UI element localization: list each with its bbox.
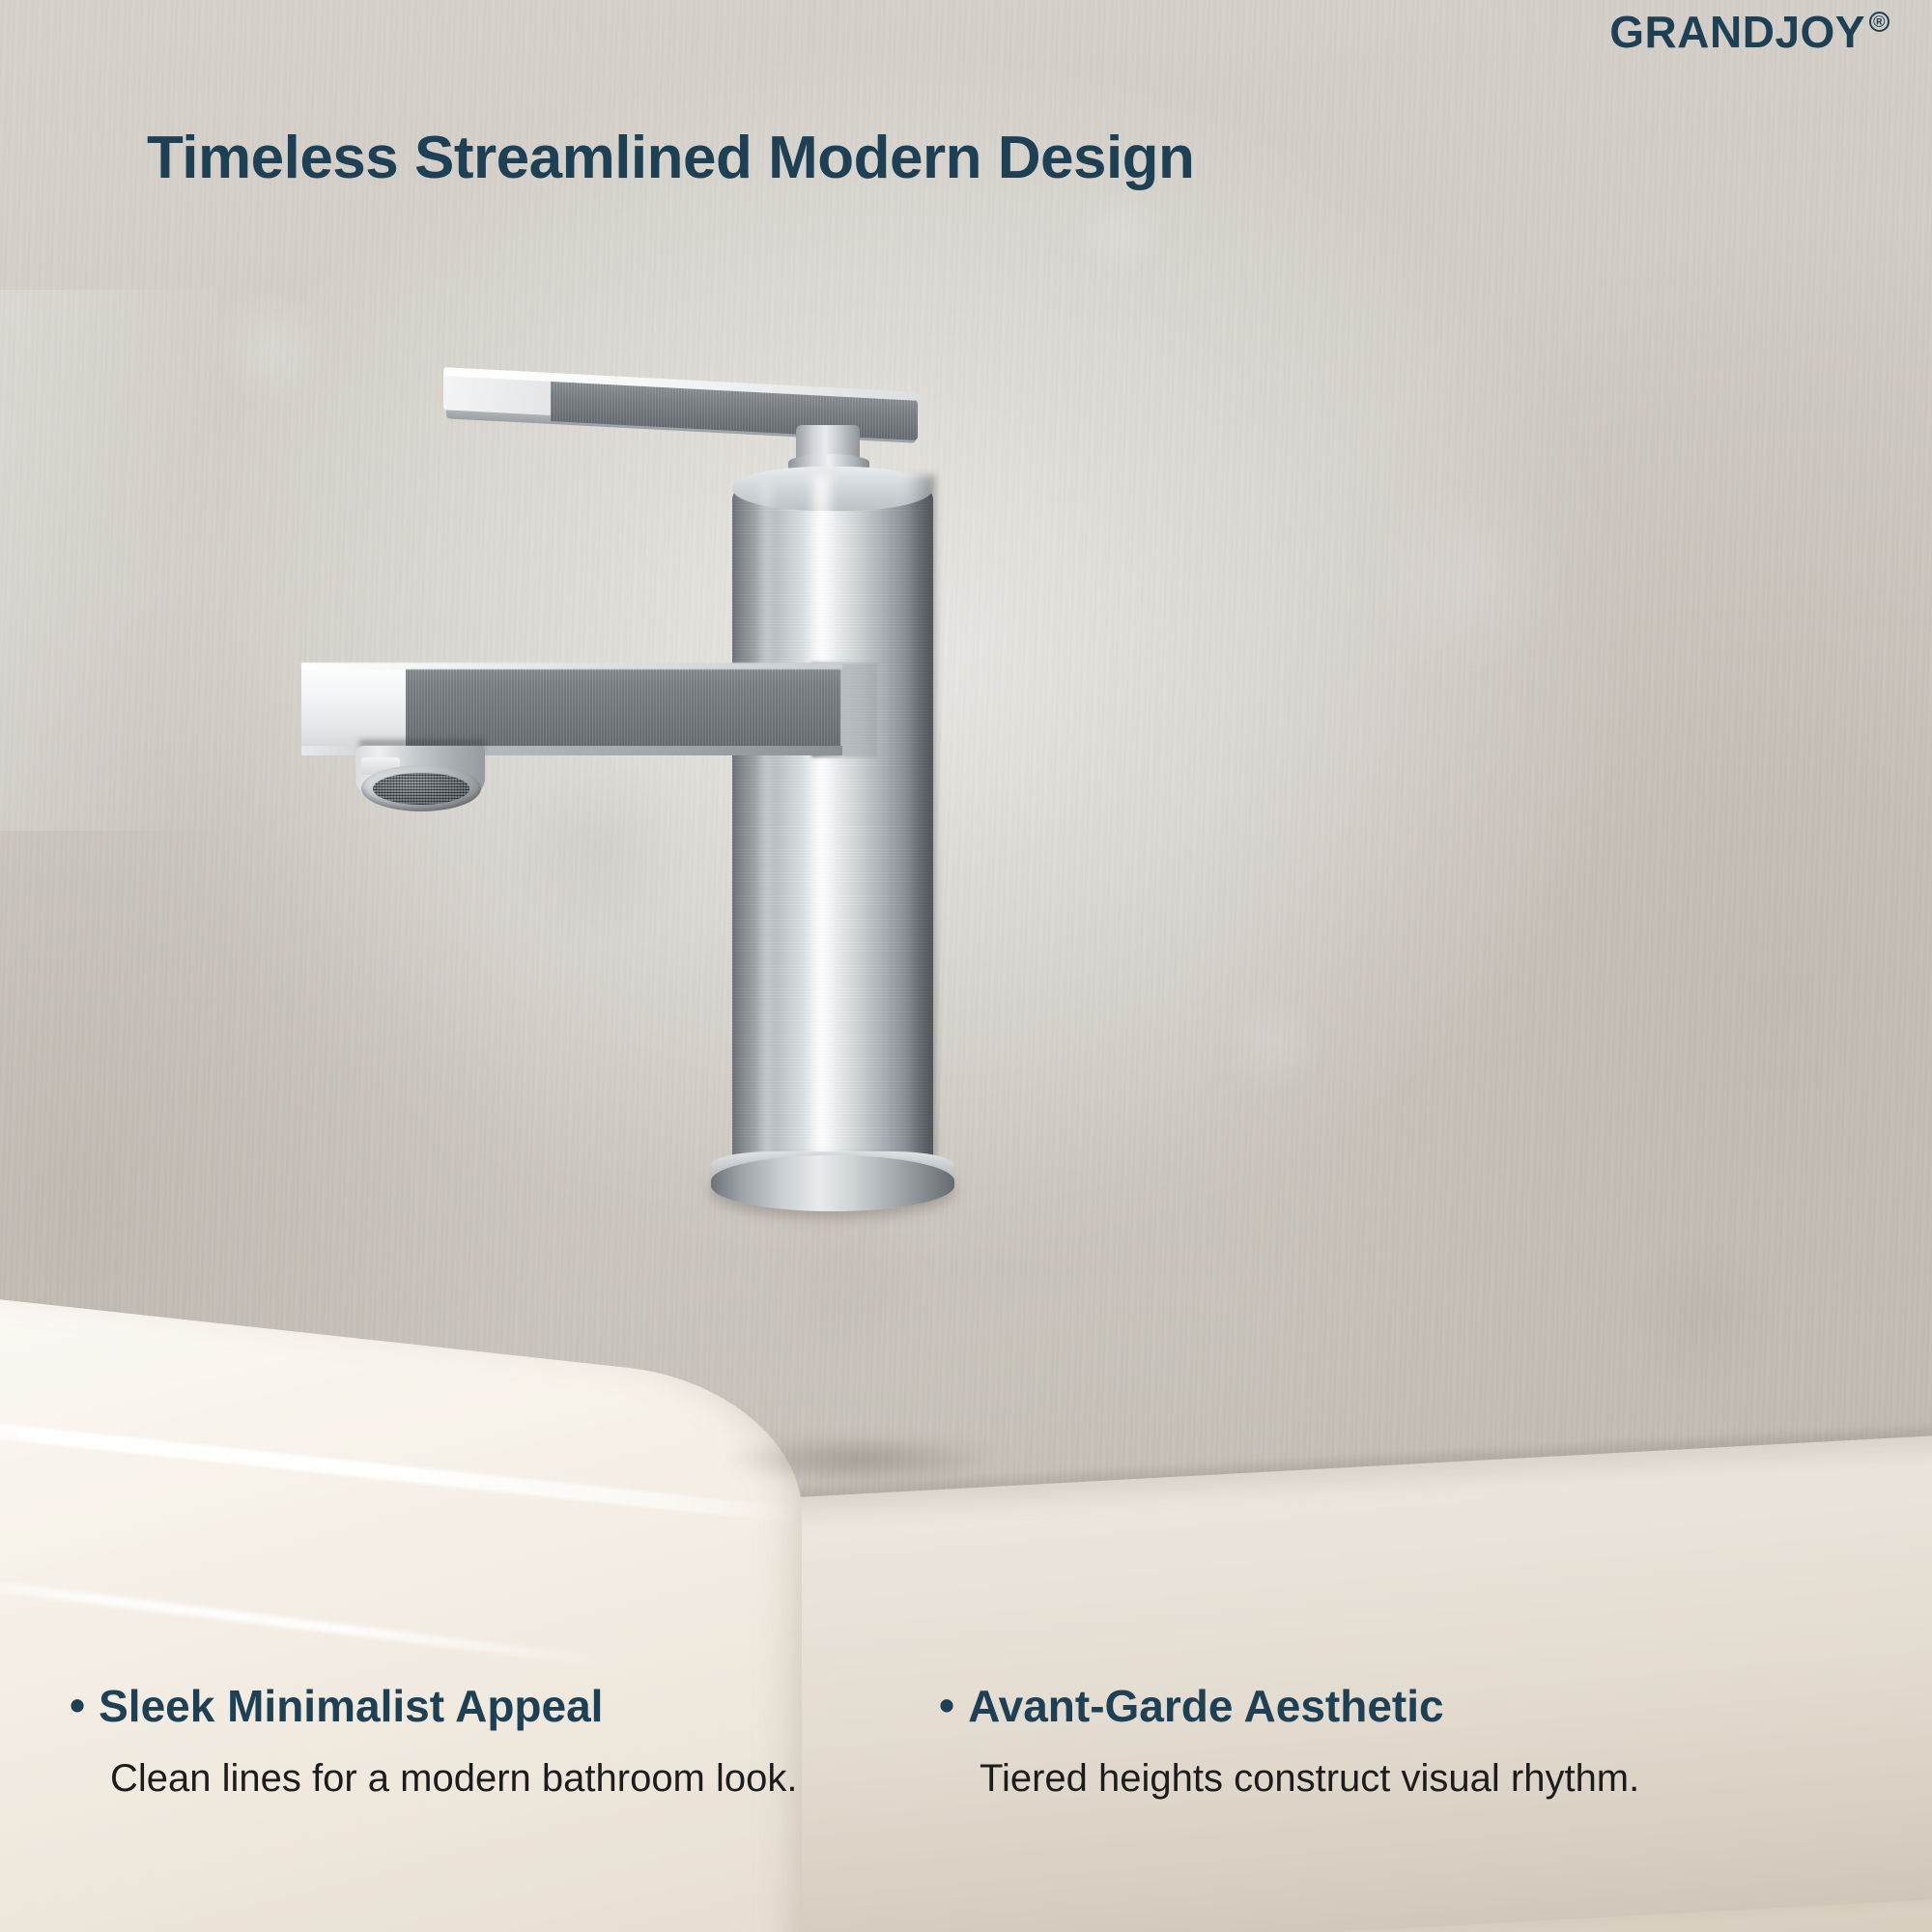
bullet-icon: • bbox=[70, 1683, 85, 1727]
body-specular-highlight bbox=[808, 475, 837, 1192]
base-escutcheon bbox=[711, 1155, 954, 1211]
faucet-product bbox=[0, 0, 1932, 1932]
aerator-mesh-screen bbox=[373, 773, 469, 805]
page-title: Timeless Streamlined Modern Design bbox=[147, 124, 1194, 192]
marketing-card: GRANDJOY ® Timeless Streamlined Modern D… bbox=[0, 0, 1932, 1932]
body-shaded-edge bbox=[906, 475, 935, 1194]
brand-logo: GRANDJOY ® bbox=[1609, 10, 1889, 54]
spout-top-edge-highlight bbox=[301, 663, 842, 669]
registered-trademark-icon: ® bbox=[1869, 12, 1889, 32]
feature-heading: • Avant-Garde Aesthetic bbox=[939, 1683, 1770, 1729]
feature-description: Clean lines for a modern bathroom look. bbox=[110, 1750, 862, 1806]
feature-heading: • Sleek Minimalist Appeal bbox=[70, 1683, 862, 1729]
feature-description: Tiered heights construct visual rhythm. bbox=[980, 1750, 1770, 1806]
feature-title: Sleek Minimalist Appeal bbox=[99, 1683, 603, 1729]
feature-item-sleek-minimalist-appeal: • Sleek Minimalist Appeal Clean lines fo… bbox=[70, 1683, 862, 1806]
body-secondary-highlight bbox=[759, 483, 773, 1188]
bullet-icon: • bbox=[939, 1683, 954, 1727]
feature-item-avant-garde-aesthetic: • Avant-Garde Aesthetic Tiered heights c… bbox=[939, 1683, 1770, 1806]
brand-name: GRANDJOY bbox=[1609, 10, 1865, 54]
feature-title: Avant-Garde Aesthetic bbox=[968, 1683, 1444, 1729]
